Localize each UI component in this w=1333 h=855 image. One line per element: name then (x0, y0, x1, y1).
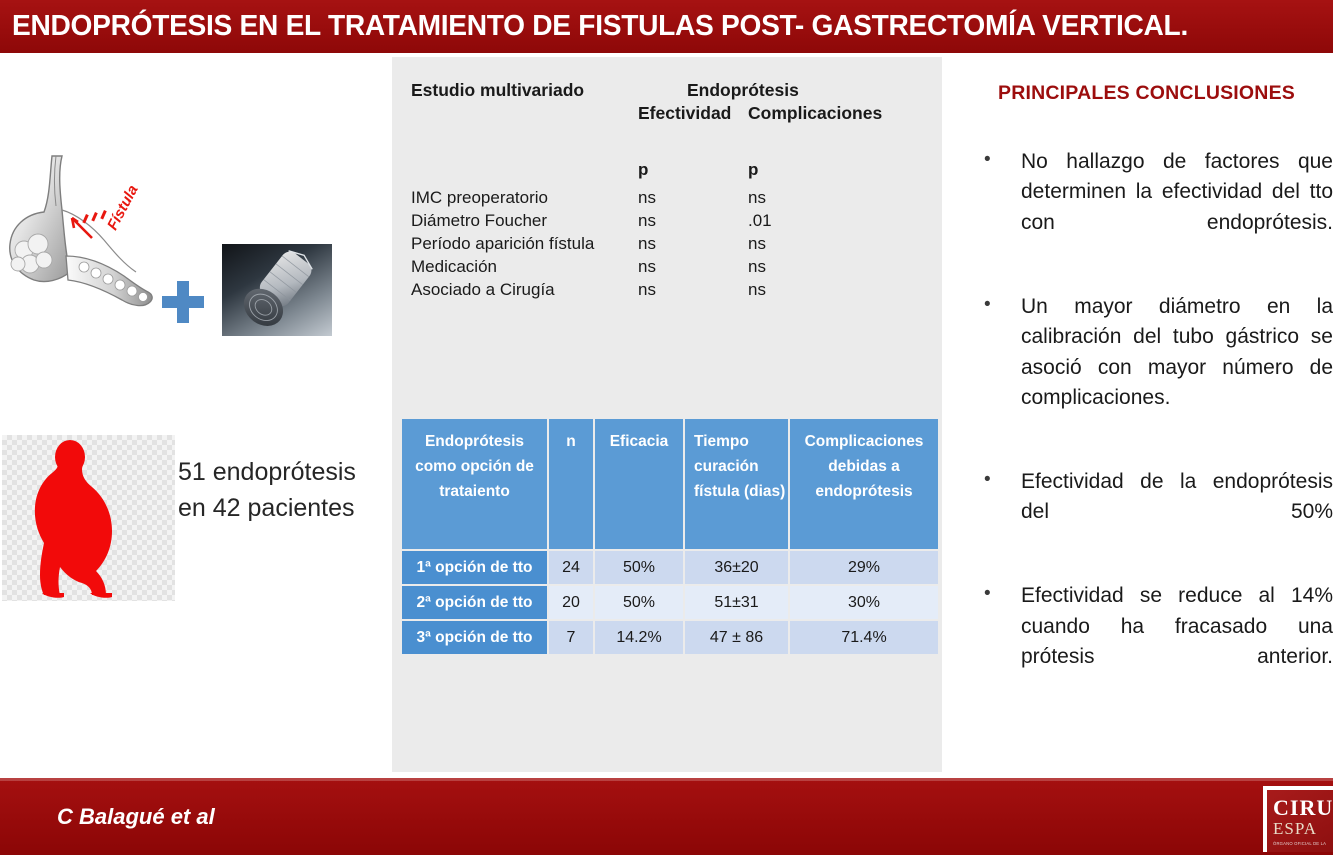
results-row-n: 24 (549, 551, 593, 584)
footer-banner: C Balagué et al (0, 778, 1333, 855)
multivariate-row-complicaciones: ns (748, 188, 766, 208)
multivariate-title: Estudio multivariado (411, 80, 584, 101)
multivariate-row-efectividad: ns (638, 211, 656, 231)
obese-patient-silhouette-icon (2, 435, 175, 601)
results-row-complicaciones: 29% (790, 551, 938, 584)
conclusion-text: Un mayor diámetro en la calibración del … (1021, 292, 1333, 444)
results-row-complicaciones: 71.4% (790, 621, 938, 654)
esophageal-stent-icon (222, 244, 332, 336)
patient-count-line-1: 51 endoprótesis (178, 455, 388, 491)
conclusion-text: No hallazgo de factores que determinen l… (1021, 147, 1333, 269)
results-header-tiempo: Tiempo curación fístula (dias) (685, 419, 788, 549)
multivariate-row-complicaciones: ns (748, 257, 766, 277)
results-header-n: n (549, 419, 593, 549)
conclusion-text: Efectividad de la endoprótesis del 50% (1021, 467, 1333, 558)
results-row-n: 7 (549, 621, 593, 654)
results-header-eficacia: Eficacia (595, 419, 683, 549)
patient-count-text: 51 endoprótesis en 42 pacientes (178, 455, 388, 526)
stent-photograph (222, 244, 332, 336)
conclusions-list: • No hallazgo de factores que determinen… (970, 147, 1333, 726)
multivariate-row: Medicación ns ns (411, 257, 931, 280)
multivariate-row: Asociado a Cirugía ns ns (411, 280, 931, 303)
bullet-icon: • (984, 470, 991, 489)
patient-count-line-2: en 42 pacientes (178, 491, 388, 527)
results-row-eficacia: 50% (595, 551, 683, 584)
results-row-option: 1ª opción de tto (402, 551, 547, 584)
journal-logo-line-3: ÓRGANO OFICIAL DE LA (1273, 841, 1333, 846)
table-row: 2ª opción de tto 20 50% 51±31 30% (402, 586, 938, 619)
left-illustration-panel: Fístula (0, 57, 392, 772)
results-row-tiempo: 51±31 (685, 586, 788, 619)
results-header-complicaciones: Complicaciones debidas a endoprótesis (790, 419, 938, 549)
multivariate-row-label: Período aparición fístula (411, 234, 594, 254)
multivariate-header: Estudio multivariado Endoprótesis Efecti… (411, 80, 931, 136)
page-title: ENDOPRÓTESIS EN EL TRATAMIENTO DE FISTUL… (12, 10, 1188, 43)
stomach-sleeve-icon (0, 152, 175, 342)
results-table-header-row: Endoprótesis como opción de trataiento n… (402, 419, 938, 549)
results-row-option: 2ª opción de tto (402, 586, 547, 619)
multivariate-col2-header: Complicaciones (748, 103, 882, 124)
footer-author: C Balagué et al (57, 804, 215, 830)
multivariate-row-complicaciones: ns (748, 234, 766, 254)
results-row-tiempo: 36±20 (685, 551, 788, 584)
multivariate-row-efectividad: ns (638, 234, 656, 254)
bullet-icon: • (984, 295, 991, 314)
multivariate-row-label: Asociado a Cirugía (411, 280, 555, 300)
table-row: 3ª opción de tto 7 14.2% 47 ± 86 71.4% (402, 621, 938, 654)
journal-logo-inner: CIRU ESPA ÓRGANO OFICIAL DE LA (1267, 790, 1333, 852)
multivariate-group-header: Endoprótesis (687, 80, 799, 101)
results-row-eficacia: 50% (595, 586, 683, 619)
multivariate-row: Diámetro Foucher ns .01 (411, 211, 931, 234)
multivariate-row: IMC preoperatorio ns ns (411, 188, 931, 211)
bullet-icon: • (984, 584, 991, 603)
patient-silhouette-image (2, 435, 175, 601)
results-row-option: 3ª opción de tto (402, 621, 547, 654)
results-row-complicaciones: 30% (790, 586, 938, 619)
bullet-icon: • (984, 150, 991, 169)
results-row-tiempo: 47 ± 86 (685, 621, 788, 654)
multivariate-row-efectividad: ns (638, 257, 656, 277)
title-banner: ENDOPRÓTESIS EN EL TRATAMIENTO DE FISTUL… (0, 0, 1333, 53)
multivariate-row-label: IMC preoperatorio (411, 188, 548, 208)
stomach-anatomy-illustration (0, 152, 175, 342)
fistula-arrow-icon (72, 218, 92, 238)
results-table: Endoprótesis como opción de trataiento n… (400, 417, 940, 656)
multivariate-row: Período aparición fístula ns ns (411, 234, 931, 257)
journal-logo-line-1: CIRU (1273, 797, 1333, 819)
fistula-tick-marks-icon (82, 210, 106, 223)
table-row: 1ª opción de tto 24 50% 36±20 29% (402, 551, 938, 584)
conclusion-text: Efectividad se reduce al 14% cuando ha f… (1021, 581, 1333, 703)
list-item: • No hallazgo de factores que determinen… (970, 147, 1333, 269)
slide-root: ENDOPRÓTESIS EN EL TRATAMIENTO DE FISTUL… (0, 0, 1333, 855)
list-item: • Efectividad de la endoprótesis del 50% (970, 467, 1333, 558)
footer-divider (0, 778, 1333, 781)
multivariate-row-complicaciones: ns (748, 280, 766, 300)
multivariate-row-efectividad: ns (638, 188, 656, 208)
conclusions-title: PRINCIPALES CONCLUSIONES (960, 82, 1333, 105)
conclusions-panel: PRINCIPALES CONCLUSIONES • No hallazgo d… (960, 57, 1333, 772)
multivariate-p-row: p p (411, 160, 931, 188)
p-label-complicaciones: p (748, 160, 758, 180)
journal-logo-line-2: ESPA (1273, 819, 1333, 839)
list-item: • Un mayor diámetro en la calibración de… (970, 292, 1333, 444)
multivariate-row-label: Medicación (411, 257, 497, 277)
multivariate-row-complicaciones: .01 (748, 211, 772, 231)
plus-icon (160, 279, 206, 325)
multivariate-study-block: Estudio multivariado Endoprótesis Efecti… (411, 80, 931, 303)
list-item: • Efectividad se reduce al 14% cuando ha… (970, 581, 1333, 703)
results-header-option: Endoprótesis como opción de trataiento (402, 419, 547, 549)
journal-logo: CIRU ESPA ÓRGANO OFICIAL DE LA (1263, 786, 1333, 852)
p-label-efectividad: p (638, 160, 648, 180)
multivariate-row-efectividad: ns (638, 280, 656, 300)
multivariate-col1-header: Efectividad (638, 103, 731, 124)
results-row-n: 20 (549, 586, 593, 619)
results-row-eficacia: 14.2% (595, 621, 683, 654)
multivariate-row-label: Diámetro Foucher (411, 211, 547, 231)
